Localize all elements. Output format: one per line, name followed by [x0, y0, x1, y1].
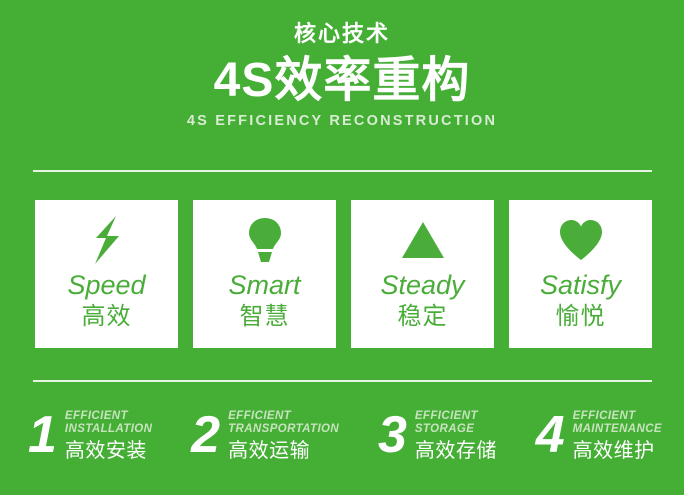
step-label-zh: 高效运输 — [228, 440, 339, 463]
feature-card-satisfy[interactable]: Satisfy 愉悦 — [509, 200, 652, 348]
feature-card-steady[interactable]: Steady 稳定 — [351, 200, 494, 348]
feature-card-title-en: Smart — [228, 270, 300, 301]
step-caption-line2: TRANSPORTATION — [228, 423, 339, 436]
step-text: EFFICIENT TRANSPORTATION 高效运输 — [228, 404, 339, 463]
step-text: EFFICIENT MAINTENANCE 高效维护 — [573, 404, 662, 463]
page-title: 4S效率重构 — [0, 54, 684, 108]
feature-card-title-zh: 高效 — [82, 303, 132, 332]
step-number: 4 — [536, 404, 573, 466]
divider-bottom — [33, 380, 652, 382]
step-item-4[interactable]: 4 EFFICIENT MAINTENANCE 高效维护 — [536, 404, 662, 476]
feature-card-title-en: Speed — [67, 270, 145, 301]
poster-header: 核心技术 4S效率重构 4S EFFICIENCY RECONSTRUCTION — [0, 22, 684, 130]
header-subtitle: 4S EFFICIENCY RECONSTRUCTION — [0, 114, 684, 130]
step-caption-line1: EFFICIENT — [415, 410, 497, 423]
step-caption-line2: MAINTENANCE — [573, 423, 662, 436]
step-number: 1 — [28, 404, 65, 466]
step-number: 2 — [191, 404, 228, 466]
step-caption-line1: EFFICIENT — [228, 410, 339, 423]
lightning-bolt-icon — [90, 214, 124, 266]
step-number: 3 — [378, 404, 415, 466]
step-item-2[interactable]: 2 EFFICIENT TRANSPORTATION 高效运输 — [191, 404, 339, 476]
feature-card-smart[interactable]: Smart 智慧 — [193, 200, 336, 348]
feature-card-list: Speed 高效 Smart 智慧 Steady 稳定 — [35, 200, 652, 348]
step-item-1[interactable]: 1 EFFICIENT INSTALLATION 高效安装 — [28, 404, 152, 476]
heart-icon — [558, 214, 604, 266]
step-caption-line1: EFFICIENT — [65, 410, 152, 423]
step-text: EFFICIENT INSTALLATION 高效安装 — [65, 404, 152, 463]
step-caption-line1: EFFICIENT — [573, 410, 662, 423]
triangle-icon — [401, 214, 445, 266]
feature-card-title-en: Steady — [380, 270, 464, 301]
step-item-3[interactable]: 3 EFFICIENT STORAGE 高效存储 — [378, 404, 497, 476]
header-eyebrow: 核心技术 — [0, 22, 684, 46]
step-label-zh: 高效安装 — [65, 440, 152, 463]
divider-top — [33, 170, 652, 172]
step-label-zh: 高效存储 — [415, 440, 497, 463]
step-caption-line2: STORAGE — [415, 423, 497, 436]
step-label-zh: 高效维护 — [573, 440, 662, 463]
feature-card-title-zh: 愉悦 — [556, 303, 606, 332]
feature-card-title-en: Satisfy — [540, 270, 621, 301]
infographic-poster: 核心技术 4S效率重构 4S EFFICIENCY RECONSTRUCTION… — [0, 0, 684, 495]
step-text: EFFICIENT STORAGE 高效存储 — [415, 404, 497, 463]
step-list: 1 EFFICIENT INSTALLATION 高效安装 2 EFFICIEN… — [28, 404, 662, 476]
feature-card-title-zh: 智慧 — [240, 303, 290, 332]
feature-card-speed[interactable]: Speed 高效 — [35, 200, 178, 348]
feature-card-title-zh: 稳定 — [398, 303, 448, 332]
lightbulb-icon — [246, 214, 284, 266]
step-caption-line2: INSTALLATION — [65, 423, 152, 436]
